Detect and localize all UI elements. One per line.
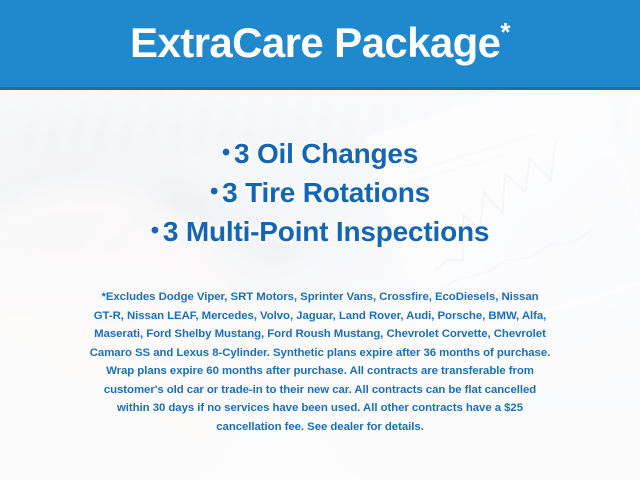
bullet-icon: • — [222, 139, 230, 166]
benefit-item: •3 Multi-Point Inspections — [0, 212, 640, 251]
disclaimer-line: *Excludes Dodge Viper, SRT Motors, Sprin… — [24, 288, 616, 307]
bullet-icon: • — [210, 178, 218, 205]
benefit-item-label: 3 Multi-Point Inspections — [163, 216, 489, 247]
page-title-text: ExtraCare Package — [130, 19, 500, 66]
benefit-item-label: 3 Oil Changes — [234, 138, 418, 169]
benefit-item-label: 3 Tire Rotations — [222, 177, 430, 208]
disclaimer-line: Maserati, Ford Shelby Mustang, Ford Rous… — [24, 325, 616, 344]
benefit-item: •3 Tire Rotations — [0, 173, 640, 212]
benefit-item: •3 Oil Changes — [0, 134, 640, 173]
disclaimer-line: cancellation fee. See dealer for details… — [24, 418, 616, 437]
bullet-icon: • — [151, 217, 159, 244]
benefits-list: •3 Oil Changes •3 Tire Rotations •3 Mult… — [0, 134, 640, 251]
disclaimer-line: GT-R, Nissan LEAF, Mercedes, Volvo, Jagu… — [24, 307, 616, 326]
disclaimer-line: Camaro SS and Lexus 8-Cylinder. Syntheti… — [24, 344, 616, 363]
disclaimer-text: *Excludes Dodge Viper, SRT Motors, Sprin… — [24, 288, 616, 436]
page-title: ExtraCare Package* — [130, 19, 510, 68]
header-banner: ExtraCare Package* — [0, 0, 640, 90]
title-asterisk: * — [500, 17, 510, 47]
extracare-package-ad: ExtraCare Package* •3 Oil Changes •3 Tir… — [0, 0, 640, 480]
disclaimer-line: within 30 days if no services have been … — [24, 399, 616, 418]
disclaimer-line: customer's old car or trade-in to their … — [24, 381, 616, 400]
disclaimer-line: Wrap plans expire 60 months after purcha… — [24, 362, 616, 381]
